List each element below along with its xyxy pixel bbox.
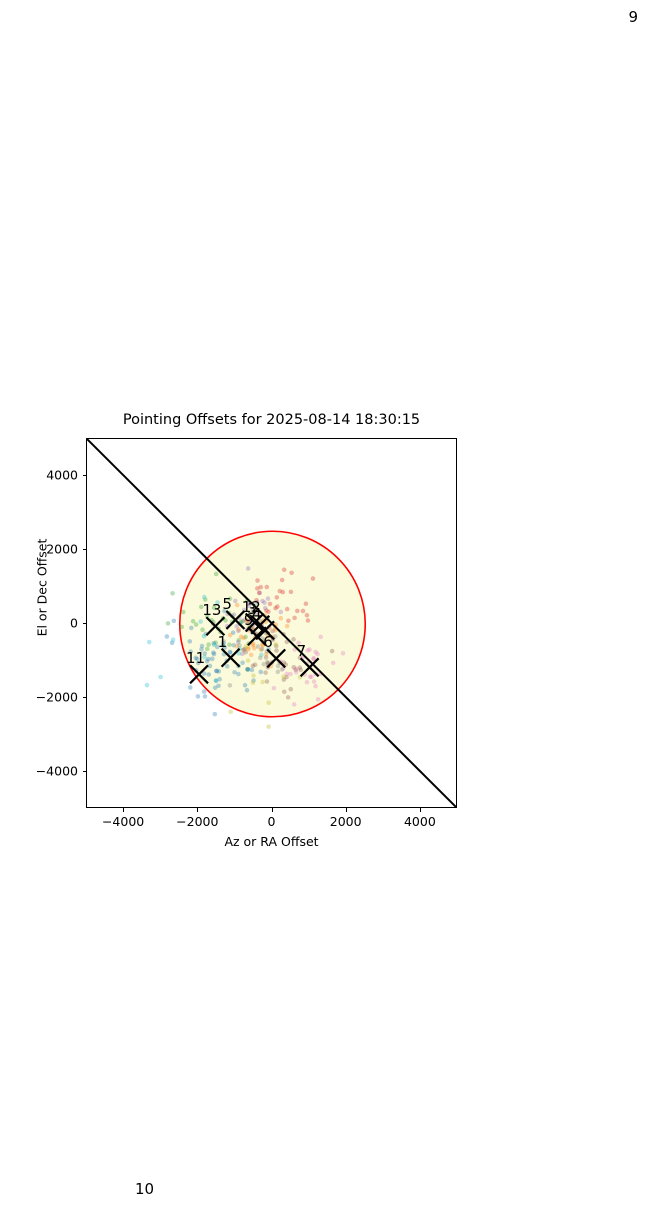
- scatter-point: [213, 712, 218, 717]
- scatter-point: [256, 644, 261, 649]
- scatter-point: [228, 633, 233, 638]
- scatter-point: [170, 591, 175, 596]
- scatter-point: [260, 680, 265, 685]
- x-tick-mark: [197, 808, 198, 812]
- scatter-point: [313, 650, 318, 655]
- y-tick-mark: [83, 771, 87, 772]
- page-number-bottom: 10: [135, 1180, 154, 1198]
- scatter-point: [214, 669, 219, 674]
- marker-label: 7: [297, 644, 307, 659]
- scatter-point: [292, 616, 297, 621]
- y-tick-mark: [83, 475, 87, 476]
- scatter-point: [246, 658, 251, 663]
- scatter-point: [277, 589, 282, 594]
- y-tick-mark: [83, 549, 87, 550]
- scatter-point: [318, 635, 323, 640]
- scatter-point: [275, 604, 280, 609]
- scatter-point: [282, 689, 287, 694]
- x-tick-mark: [346, 808, 347, 812]
- scatter-point: [198, 619, 203, 624]
- scatter-point: [280, 667, 285, 672]
- scatter-point: [301, 609, 306, 614]
- scatter-point: [234, 624, 239, 629]
- scatter-point: [276, 670, 281, 675]
- scatter-point: [292, 702, 297, 707]
- y-tick-mark: [83, 623, 87, 624]
- x-axis-label: Az or RA Offset: [86, 834, 457, 849]
- scatter-point: [233, 599, 238, 604]
- scatter-point: [341, 651, 346, 656]
- x-tick-label: −2000: [176, 814, 218, 829]
- scatter-point: [194, 622, 199, 627]
- scatter-point: [203, 694, 208, 699]
- scatter-point: [179, 625, 184, 630]
- y-axis-label: El or Dec Offset: [35, 508, 50, 668]
- scatter-point: [298, 668, 303, 673]
- scatter-point: [275, 595, 280, 600]
- scatter-point: [285, 624, 290, 629]
- page-number-top: 9: [628, 8, 638, 26]
- scatter-point: [331, 661, 336, 666]
- scatter-point: [289, 590, 294, 595]
- scatter-point: [245, 667, 250, 672]
- scatter-point: [214, 678, 219, 683]
- scatter-point: [316, 697, 321, 702]
- marker-label: 6: [263, 635, 273, 650]
- scatter-point: [250, 668, 255, 673]
- x-tick-label: 0: [268, 814, 276, 829]
- scatter-point: [306, 618, 311, 623]
- scatter-point: [255, 586, 260, 591]
- scatter-point: [202, 689, 207, 694]
- y-tick-label: 4000: [14, 468, 78, 483]
- scatter-point: [263, 670, 268, 675]
- x-tick-label: 4000: [404, 814, 436, 829]
- scatter-point: [259, 653, 264, 658]
- scatter-point: [181, 610, 186, 615]
- scatter-point: [307, 647, 312, 652]
- scatter-point: [268, 602, 273, 607]
- y-tick-mark: [83, 697, 87, 698]
- scatter-point: [188, 639, 193, 644]
- scatter-point: [305, 680, 310, 685]
- scatter-point: [206, 642, 211, 647]
- scatter-point: [305, 613, 310, 618]
- scatter-point: [280, 578, 285, 583]
- scatter-point: [273, 642, 278, 647]
- scatter-point: [279, 610, 284, 615]
- marker-label: 5: [222, 597, 232, 612]
- scatter-point: [279, 616, 284, 621]
- scatter-point: [213, 685, 218, 690]
- scatter-point: [172, 619, 177, 624]
- scatter-point: [228, 683, 233, 688]
- scatter-point: [196, 694, 201, 699]
- scatter-point: [205, 647, 210, 652]
- scatter-point: [171, 637, 176, 642]
- y-tick-label: −2000: [14, 690, 78, 705]
- scatter-point: [145, 683, 150, 688]
- scatter-point: [276, 664, 281, 669]
- scatter-point: [274, 648, 279, 653]
- scatter-point: [166, 621, 171, 626]
- scatter-point: [272, 686, 277, 691]
- scatter-point: [188, 685, 193, 690]
- scatter-point: [266, 596, 271, 601]
- scatter-point: [206, 672, 211, 677]
- scatter-point: [235, 603, 240, 608]
- scatter-point: [261, 662, 266, 667]
- scatter-point: [286, 695, 291, 700]
- scatter-point: [330, 649, 335, 654]
- scatter-point: [225, 664, 230, 669]
- scatter-point: [281, 674, 286, 679]
- scatter-point: [205, 659, 210, 664]
- scatter-point: [266, 609, 271, 614]
- scatter-point: [291, 637, 296, 642]
- scatter-point: [200, 644, 205, 649]
- scatter-point: [202, 595, 207, 600]
- scatter-point: [286, 618, 291, 623]
- marker-label: 9: [244, 613, 254, 628]
- scatter-point: [236, 672, 241, 677]
- scatter-point: [246, 566, 251, 571]
- scatter-point: [309, 675, 314, 680]
- scatter-point: [200, 627, 205, 632]
- x-tick-label: 2000: [330, 814, 362, 829]
- scatter-point: [214, 572, 219, 577]
- scatter-point: [251, 673, 256, 678]
- scatter-point: [239, 634, 244, 639]
- scatter-point: [251, 681, 256, 686]
- scatter-point: [295, 609, 300, 614]
- pointing-offsets-figure: Pointing Offsets for 2025-08-14 18:30:15…: [0, 400, 652, 860]
- scatter-point: [236, 629, 241, 634]
- scatter-point: [210, 657, 215, 662]
- scatter-point: [285, 607, 290, 612]
- scatter-point: [312, 679, 317, 684]
- scatter-point: [243, 683, 248, 688]
- scatter-point: [255, 578, 260, 583]
- scatter-point: [311, 576, 316, 581]
- scatter-point: [257, 591, 262, 596]
- x-tick-label: −4000: [102, 814, 144, 829]
- scatter-point: [294, 670, 299, 675]
- scatter-point: [158, 675, 163, 680]
- scatter-point: [265, 679, 270, 684]
- scatter-point: [245, 688, 250, 693]
- x-tick-mark: [123, 808, 124, 812]
- y-tick-label: −4000: [14, 764, 78, 779]
- x-tick-mark: [272, 808, 273, 812]
- scatter-point: [266, 700, 271, 705]
- scatter-point: [147, 640, 152, 645]
- x-tick-mark: [420, 808, 421, 812]
- scatter-point: [288, 687, 293, 692]
- chart-title: Pointing Offsets for 2025-08-14 18:30:15: [86, 412, 457, 428]
- scatter-point: [249, 653, 254, 658]
- scatter-point: [264, 655, 269, 660]
- scatter-point: [262, 600, 267, 605]
- scatter-point: [202, 634, 207, 639]
- marker-label: 4: [252, 607, 262, 622]
- scatter-point: [253, 662, 258, 667]
- scatter-point: [313, 684, 318, 689]
- scatter-point: [212, 652, 217, 657]
- scatter-point: [289, 570, 294, 575]
- scatter-point: [189, 626, 194, 631]
- marker-label: 1: [218, 635, 228, 650]
- marker-label: 13: [202, 603, 221, 618]
- scatter-point: [258, 670, 263, 675]
- scatter-point: [240, 661, 245, 666]
- marker-label: 11: [186, 651, 205, 666]
- plot-canvas: [87, 439, 457, 808]
- scatter-point: [212, 643, 217, 648]
- scatter-point: [227, 642, 232, 647]
- scatter-point: [228, 650, 233, 655]
- scatter-point: [282, 567, 287, 572]
- scatter-point: [165, 634, 170, 639]
- scatter-point: [264, 585, 269, 590]
- plot-axes: [86, 438, 457, 808]
- scatter-point: [266, 724, 271, 729]
- scatter-point: [304, 601, 309, 606]
- scatter-point: [228, 709, 233, 714]
